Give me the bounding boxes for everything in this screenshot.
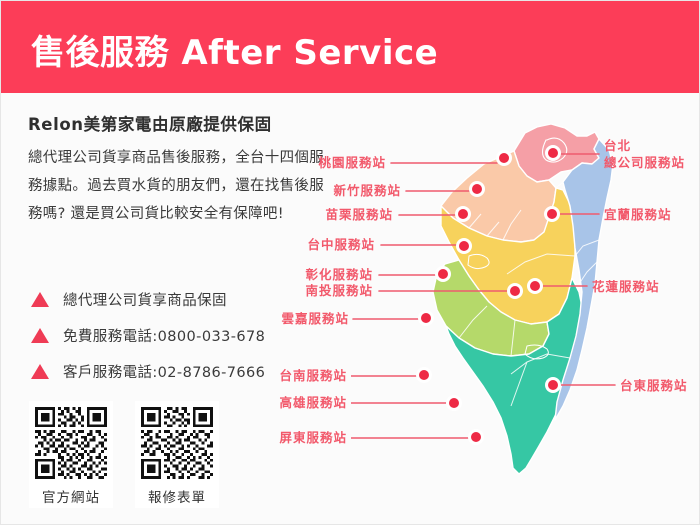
intro-heading: Relon美第家電由原廠提供保固: [28, 113, 348, 136]
list-item-label: 免費服務電話:0800-033-678: [63, 325, 265, 346]
page-header: 售後服務 After Service: [1, 1, 700, 93]
taiwan-service-map: 桃園服務站 新竹服務站 苗栗服務站 台中服務站 彰化服務站 南投服務站 雲嘉服務…: [351, 106, 691, 516]
map-label-yunchia[interactable]: 雲嘉服務站: [249, 311, 349, 327]
map-dot-miaoli-core: [458, 209, 468, 219]
map-label-kaohsiung[interactable]: 高雄服務站: [247, 395, 347, 411]
map-label-pingtung[interactable]: 屏東服務站: [247, 430, 347, 446]
map-dot-taoyuan-core: [499, 153, 509, 163]
map-label-miaoli[interactable]: 苗栗服務站: [293, 207, 393, 223]
qr-code-repair-form[interactable]: 報修表單: [135, 401, 219, 508]
map-label-taipei-headquarters[interactable]: 台北 總公司服務站: [604, 138, 685, 172]
after-service-infographic: 售後服務 After Service Relon美第家電由原廠提供保固 總代理公…: [0, 0, 700, 525]
list-item-label: 總代理公司貨享商品保固: [63, 289, 227, 310]
map-label-changhua[interactable]: 彰化服務站: [273, 267, 373, 283]
qr-caption: 報修表單: [148, 486, 206, 506]
triangle-bullet-icon: [31, 292, 49, 307]
map-dot-taitung-core: [548, 380, 558, 390]
triangle-bullet-icon: [31, 328, 49, 343]
map-label-taipei-line2: 總公司服務站: [604, 155, 685, 172]
map-label-yilan[interactable]: 宜蘭服務站: [604, 207, 672, 223]
triangle-bullet-icon: [31, 364, 49, 379]
map-label-taichung[interactable]: 台中服務站: [275, 237, 375, 253]
map-dot-tainan-core: [419, 370, 429, 380]
map-dot-taipei-core: [548, 148, 558, 158]
map-dot-kaohsiung-core: [449, 398, 459, 408]
map-dot-hualien-core: [530, 281, 540, 291]
map-label-hualien[interactable]: 花蓮服務站: [592, 279, 660, 295]
map-dot-yunchia-core: [421, 313, 431, 323]
map-label-tainan[interactable]: 台南服務站: [247, 368, 347, 384]
map-dot-changhua-core: [438, 269, 448, 279]
qr-code-icon: [35, 407, 107, 479]
map-dot-hsinchu-core: [472, 184, 482, 194]
map-dot-pingtung-core: [471, 432, 481, 442]
qr-code-group: 官方網站: [29, 401, 219, 508]
qr-caption: 官方網站: [42, 486, 100, 506]
map-label-taitung[interactable]: 台東服務站: [620, 378, 688, 394]
map-label-taipei-line1: 台北: [604, 138, 685, 155]
page-title: 售後服務 After Service: [31, 25, 438, 74]
map-dot-taichung-core: [459, 241, 469, 251]
map-label-nantou[interactable]: 南投服務站: [273, 283, 373, 299]
map-label-hsinchu[interactable]: 新竹服務站: [301, 183, 401, 199]
map-dot-nantou-core: [510, 286, 520, 296]
map-dot-yilan-core: [547, 209, 557, 219]
qr-code-icon: [141, 407, 213, 479]
map-label-taoyuan[interactable]: 桃園服務站: [286, 155, 386, 171]
intro-body-text: 總代理公司貨享商品售後服務，全台十四個服務據點。過去買水貨的朋友們，還在找售後服…: [28, 145, 328, 228]
qr-code-website[interactable]: 官方網站: [29, 401, 113, 508]
list-item-label: 客戶服務電話:02-8786-7666: [63, 361, 265, 382]
